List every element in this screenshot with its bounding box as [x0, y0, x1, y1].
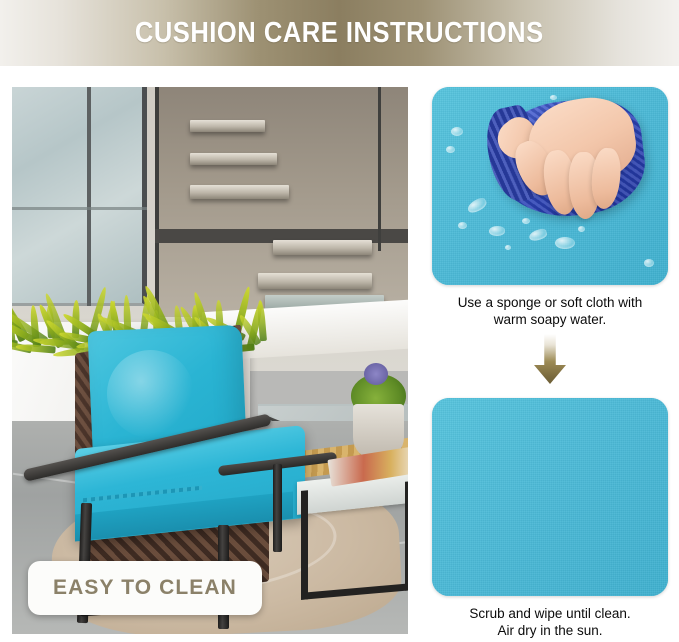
chair-leg [273, 464, 282, 552]
clean-teal-fabric-surface [432, 398, 668, 596]
water-droplet [458, 222, 467, 229]
page-title: CUSHION CARE INSTRUCTIONS [135, 17, 544, 50]
step-1-image [432, 87, 668, 285]
step-1-caption-line-1: Use a sponge or soft cloth with [432, 294, 668, 311]
step-1-caption-line-2: warm soapy water. [432, 311, 668, 328]
step-flow-arrow [432, 334, 668, 390]
water-droplet [451, 127, 463, 136]
window-pane-divider [12, 207, 147, 210]
page-header-banner: CUSHION CARE INSTRUCTIONS [0, 0, 679, 66]
water-droplet [578, 226, 585, 232]
care-steps-column: Use a sponge or soft cloth with warm soa… [432, 87, 668, 634]
step-2-caption: Scrub and wipe until clean. Air dry in t… [432, 605, 668, 639]
step-2-caption-line-1: Scrub and wipe until clean. [432, 605, 668, 622]
side-table-frame [301, 481, 408, 600]
step-1-caption: Use a sponge or soft cloth with warm soa… [432, 294, 668, 328]
water-droplet [522, 218, 530, 224]
hero-product-photo: EASY TO CLEAN [12, 87, 408, 634]
arrow-down-icon [534, 334, 566, 384]
window-post [378, 87, 381, 251]
stair-tread [273, 240, 372, 255]
care-step-1: Use a sponge or soft cloth with warm soa… [432, 87, 668, 328]
water-droplet [489, 226, 505, 236]
water-droplet [550, 95, 557, 100]
easy-to-clean-label: EASY TO CLEAN [53, 576, 237, 600]
stair-tread [190, 185, 289, 199]
stair-tread [190, 120, 265, 133]
patio-scene [12, 87, 408, 634]
care-step-2: Scrub and wipe until clean. Air dry in t… [432, 398, 668, 639]
stair-tread [190, 153, 277, 166]
easy-to-clean-badge: EASY TO CLEAN [28, 561, 262, 615]
step-2-caption-line-2: Air dry in the sun. [432, 622, 668, 639]
step-2-image [432, 398, 668, 596]
stair-tread [258, 273, 373, 289]
